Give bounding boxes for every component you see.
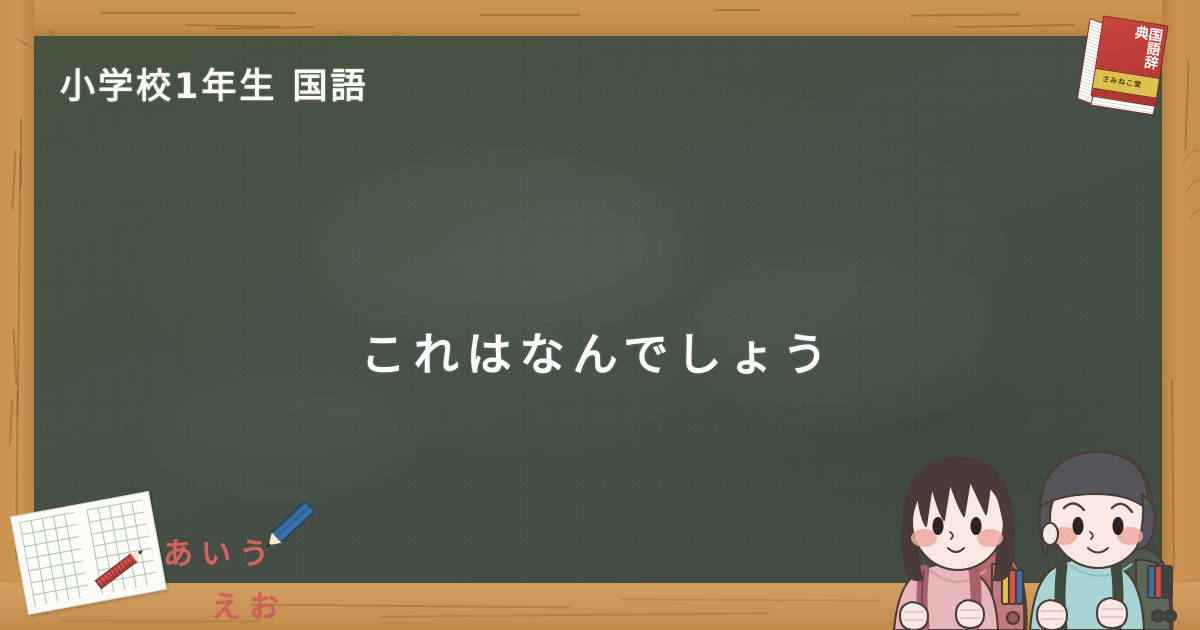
dictionary-cover: 国語辞典 さみねこ堂 [1090, 15, 1168, 106]
board-main-text: これはなんでしょう [34, 318, 1162, 383]
boy-eye [1073, 517, 1084, 535]
girl-cheek [911, 529, 937, 547]
girl-eye [933, 517, 944, 535]
chalk-note-eo: えお [211, 582, 287, 626]
girl-cheek [977, 529, 1003, 547]
dictionary-title: 国語辞典 [1112, 22, 1163, 76]
girl-student-illustration [872, 452, 1048, 630]
chalkboard-scene: これはなんでしょう 小学校1年生 国語 あいう えお 国語辞典 さみねこ堂 [0, 0, 1200, 630]
chalk-note-aiu: あいう [163, 529, 277, 573]
frame-top-rail [0, 0, 1200, 36]
dictionary-book: 国語辞典 さみねこ堂 [1090, 15, 1169, 112]
girl-student [872, 452, 1048, 630]
blue-pencil-lead [265, 543, 272, 550]
board-title: 小学校1年生 国語 [60, 58, 369, 109]
red-pencil-lead [138, 549, 144, 555]
girl-eye [971, 517, 982, 535]
boy-eye [1113, 517, 1124, 535]
